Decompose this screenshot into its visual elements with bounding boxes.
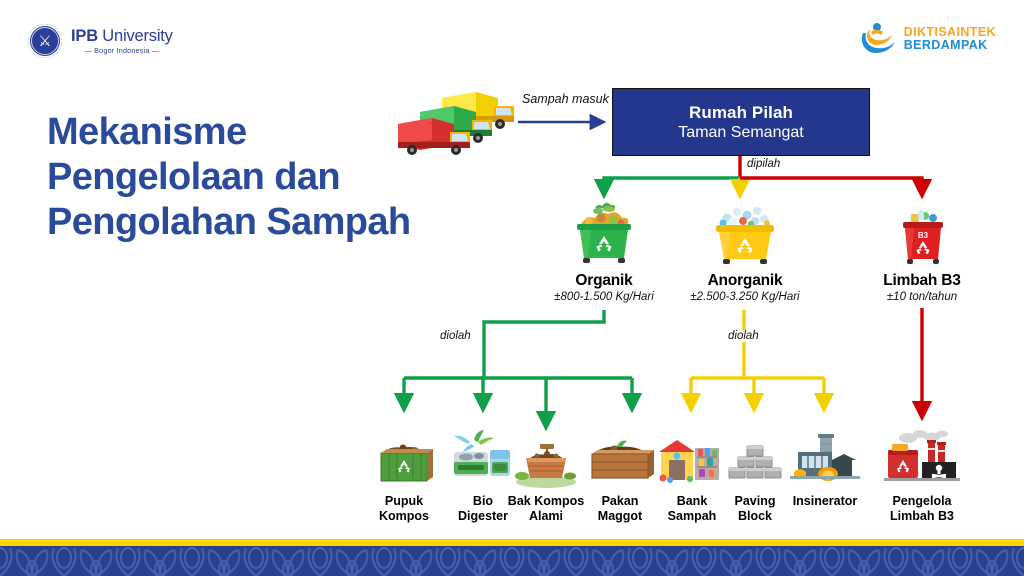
compost-bin-icon bbox=[362, 430, 446, 488]
process-label-anorganik: diolah bbox=[725, 330, 762, 342]
stream-anorganik[interactable]: Anorganik ±2.500-3.250 Kg/Hari bbox=[685, 200, 805, 303]
footer-batik-band bbox=[0, 546, 1024, 576]
stream-organik[interactable]: Organik ±800-1.500 Kg/Hari bbox=[544, 200, 664, 303]
slide: ⚔ IPB University — Bogor Indonesia — DIK… bbox=[0, 0, 1024, 576]
output-pengelola-limbah-b3[interactable]: PengelolaLimbah B3 bbox=[880, 430, 964, 524]
stream-anorganik-name: Anorganik bbox=[685, 272, 805, 290]
rumah-pilah-node[interactable]: Rumah Pilah Taman Semangat bbox=[612, 88, 870, 156]
output-label: Insinerator bbox=[783, 494, 867, 509]
output-label: PengelolaLimbah B3 bbox=[880, 494, 964, 524]
stream-organik-name: Organik bbox=[544, 272, 664, 290]
compost-box-icon bbox=[504, 430, 588, 488]
stream-organik-quantity: ±800-1.500 Kg/Hari bbox=[544, 291, 664, 303]
output-label: Bak KomposAlami bbox=[504, 494, 588, 524]
red-b3-bin-icon: B3 bbox=[862, 200, 982, 268]
sort-label: dipilah bbox=[744, 158, 783, 170]
hazardous-waste-facility-icon bbox=[880, 430, 964, 488]
output-label: PupukKompos bbox=[362, 494, 446, 524]
stream-anorganik-quantity: ±2.500-3.250 Kg/Hari bbox=[685, 291, 805, 303]
batik-floral-pattern bbox=[0, 546, 1024, 576]
inflow-label: Sampah masuk bbox=[519, 92, 612, 106]
output-pupuk-kompos[interactable]: PupukKompos bbox=[362, 430, 446, 524]
rumah-pilah-title: Rumah Pilah bbox=[689, 103, 793, 123]
output-insinerator[interactable]: Insinerator bbox=[783, 430, 867, 509]
process-label-organik: diolah bbox=[437, 330, 474, 342]
rumah-pilah-subtitle: Taman Semangat bbox=[678, 124, 803, 142]
incinerator-plant-icon bbox=[783, 430, 867, 488]
green-organic-bin-icon bbox=[544, 200, 664, 268]
output-bak-kompos-alami[interactable]: Bak KomposAlami bbox=[504, 430, 588, 524]
yellow-recycle-bin-icon bbox=[685, 200, 805, 268]
flow-diagram: Sampah masuk Rumah Pilah Taman Semangat … bbox=[0, 0, 1024, 576]
svg-text:B3: B3 bbox=[918, 231, 929, 240]
stream-limbah-b3-name: Limbah B3 bbox=[862, 272, 982, 290]
stream-limbah-b3[interactable]: B3 Limbah B3 ±10 ton/tahun bbox=[862, 200, 982, 303]
stream-limbah-b3-quantity: ±10 ton/tahun bbox=[862, 291, 982, 303]
footer-yellow-stripe bbox=[0, 539, 1024, 546]
